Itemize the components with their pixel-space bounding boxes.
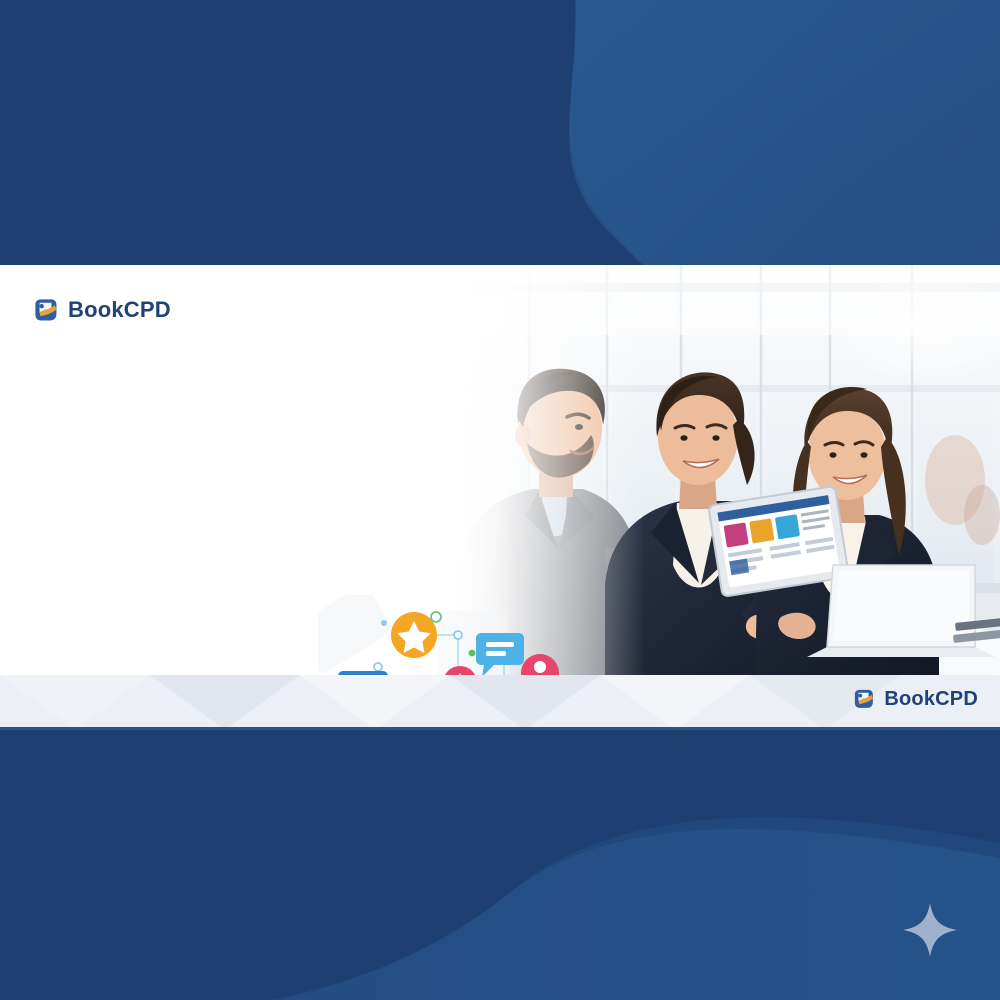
four-point-sparkle-icon [900,900,960,960]
tablet-device [708,486,849,597]
footer-rule [0,727,1000,730]
promo-card: $ [0,265,1000,675]
footer-bar [0,675,1000,730]
book-check-icon [852,687,875,710]
logo-bottom[interactable]: BookCPD [852,687,978,710]
book-check-icon [32,296,59,323]
logo-top[interactable]: BookCPD [32,296,171,323]
user-badge-red [521,654,559,675]
star-badge-orange [391,612,437,658]
footer-chevron-pattern [0,675,1000,730]
laptop-device [807,565,1000,657]
open-envelope-illustration: $ [318,595,578,675]
bottom-wave-shape-2 [210,817,1000,1000]
top-wave-shape-2 [569,0,1000,301]
banner-canvas: $ [0,0,1000,1000]
logo-text: BookCPD [68,299,171,321]
logo-text: BookCPD [884,689,978,709]
